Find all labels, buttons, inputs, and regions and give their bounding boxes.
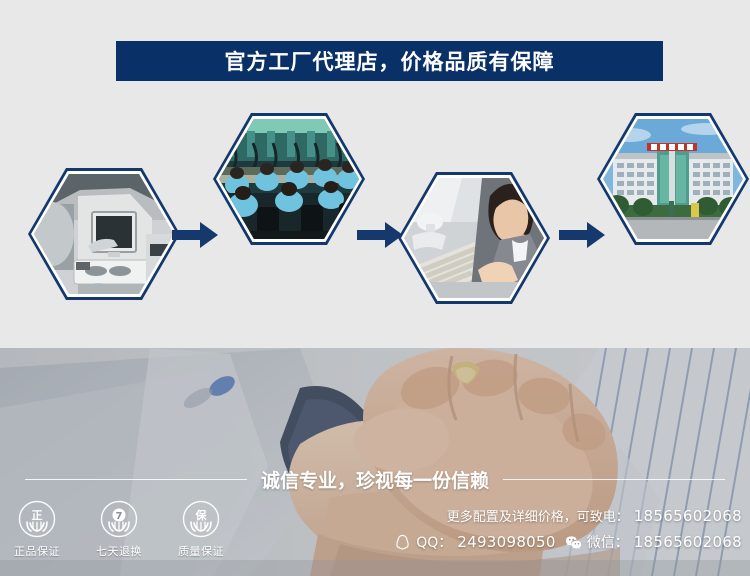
arrow-right-icon-2 [357,222,403,248]
slogan-row: 诚信专业，珍视每一份信赖 [0,466,750,492]
company-building-photo [603,119,743,239]
hands-holding-icon-3: 保 [182,500,220,538]
hands-holding-icon-2: 7 [100,500,138,538]
arrow-right-icon-1 [172,222,218,248]
top-section: 官方工厂代理店，价格品质有保障 [0,0,750,348]
trust-badges: 正 正品保证 7 [6,500,232,559]
badge-quality-guarantee: 保 质量保证 [170,500,232,559]
contact-phone-line: 更多配置及详细价格，可致电： 18565602068 [394,506,742,525]
svg-text:正: 正 [32,509,43,522]
wechat-icon[interactable] [565,534,582,551]
contact-phone-prefix: 更多配置及详细价格，可致电： [447,506,629,525]
arrow-right-icon-3 [559,222,605,248]
contact-phone-number: 18565602068 [634,507,742,525]
office-worker-computer-photo [404,178,544,298]
badge-label-3: 质量保证 [178,543,224,559]
contact-im-line: QQ： 2493098050 微信： 18565602068 [394,532,742,552]
slogan-rule-right [503,479,725,480]
wechat-number: 18565602068 [634,533,742,551]
badge-label-1: 正品保证 [14,543,60,559]
badge-label-2: 七天退换 [96,543,142,559]
qq-number: 2493098050 [457,533,555,551]
process-step-4-company-headquarters [597,113,749,245]
factory-assembly-line-photo [219,119,359,239]
svg-text:保: 保 [195,508,208,522]
bottom-section: 诚信专业，珍视每一份信赖 正 正品保证 [0,348,750,576]
badge-seven-day-return: 7 七天退换 [88,500,150,559]
wechat-label: 微信： [587,532,629,552]
slogan-text: 诚信专业，珍视每一份信赖 [261,466,489,493]
process-step-2-factory-production [213,113,365,245]
qq-label: QQ： [416,532,452,552]
badge-authentic-guarantee: 正 正品保证 [6,500,68,559]
hands-holding-icon-1: 正 [18,500,56,538]
promo-page: 官方工厂代理店，价格品质有保障 [0,0,750,576]
banner-title: 官方工厂代理店，价格品质有保障 [225,46,555,76]
process-step-1-medical-equipment [28,168,180,300]
process-step-3-sales-service [398,172,550,304]
svg-text:7: 7 [116,511,123,522]
header-banner: 官方工厂代理店，价格品质有保障 [116,41,663,81]
ultrasound-machine-photo [34,174,174,294]
slogan-rule-left [25,479,247,480]
contact-info: 更多配置及详细价格，可致电： 18565602068 QQ： 249309805… [394,506,742,552]
qq-penguin-icon[interactable] [394,534,411,551]
